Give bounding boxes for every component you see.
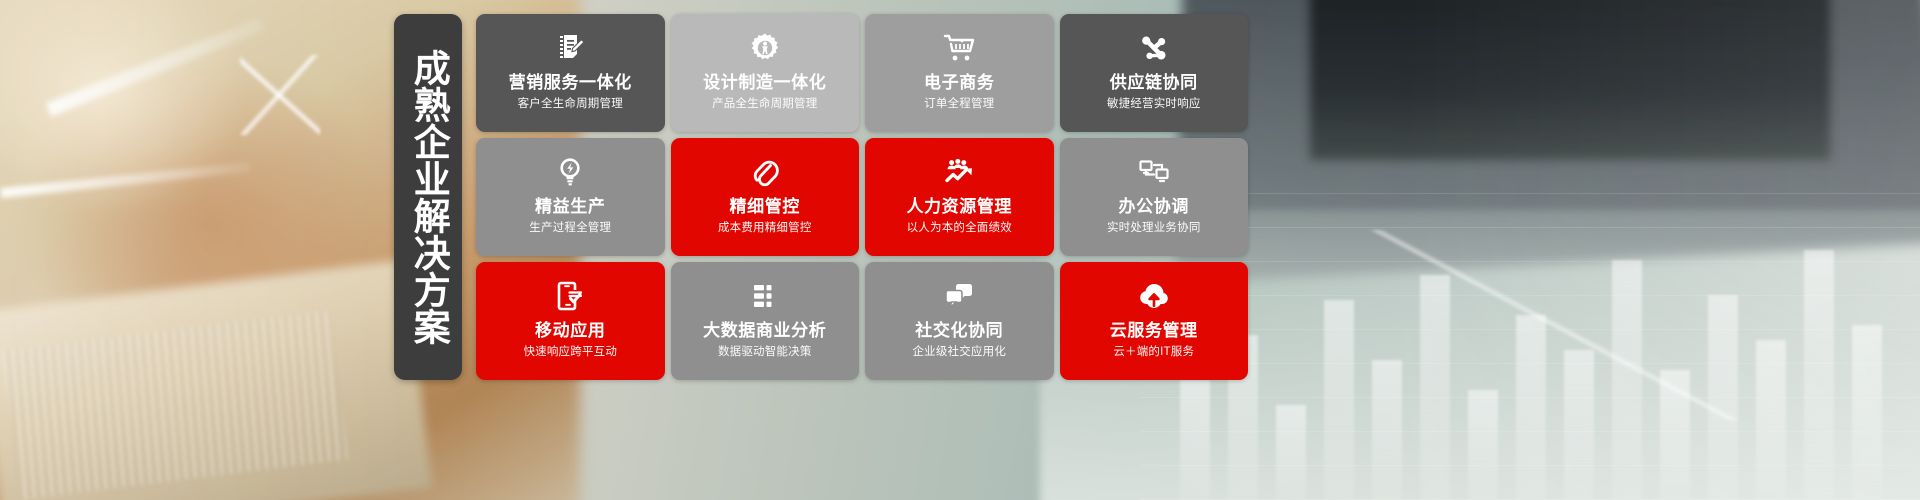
lightbulb-bolt-icon [553, 155, 587, 189]
card-subtitle: 实时处理业务协同 [1107, 222, 1201, 235]
card-design-manufacture[interactable]: 设计制造一体化 产品全生命周期管理 [671, 14, 860, 132]
card-subtitle: 企业级社交应用化 [912, 346, 1006, 359]
banner-content: 成熟企业解决方案 营销服务一体化 客户全生命周期管理 设计制造一体化 产品全生命… [0, 0, 1920, 500]
card-social-collaboration[interactable]: 社交化协同 企业级社交应用化 [865, 262, 1054, 380]
card-title: 设计制造一体化 [703, 74, 826, 93]
card-subtitle: 以人为本的全面绩效 [907, 222, 1012, 235]
card-supply-chain[interactable]: 供应链协同 敏捷经营实时响应 [1060, 14, 1249, 132]
share-network-icon [1137, 31, 1171, 65]
page-title: 成熟企业解决方案 [409, 49, 447, 345]
notepad-pen-icon [553, 31, 587, 65]
card-title: 营销服务一体化 [509, 74, 632, 93]
card-subtitle: 产品全生命周期管理 [712, 98, 817, 111]
card-subtitle: 敏捷经营实时响应 [1107, 98, 1201, 111]
gear-person-icon [748, 31, 782, 65]
paperclip-icon [748, 155, 782, 189]
cloud-upload-icon [1137, 279, 1171, 313]
card-subtitle: 成本费用精细管控 [718, 222, 812, 235]
people-growth-arrow-icon [942, 155, 976, 189]
card-title: 供应链协同 [1110, 74, 1198, 93]
card-title: 办公协调 [1119, 198, 1189, 217]
banner-stage: 成熟企业解决方案 营销服务一体化 客户全生命周期管理 设计制造一体化 产品全生命… [0, 0, 1920, 500]
data-blocks-icon [748, 279, 782, 313]
devices-sync-icon [1137, 155, 1171, 189]
card-ecommerce[interactable]: 电子商务 订单全程管理 [865, 14, 1054, 132]
solution-card-grid: 营销服务一体化 客户全生命周期管理 设计制造一体化 产品全生命周期管理 电子商务… [476, 14, 1248, 380]
card-subtitle: 生产过程全管理 [529, 222, 611, 235]
card-mobile-app[interactable]: 移动应用 快速响应跨平互动 [476, 262, 665, 380]
card-title: 精益生产 [535, 198, 605, 217]
chat-bubbles-icon [942, 279, 976, 313]
card-hr-management[interactable]: 人力资源管理 以人为本的全面绩效 [865, 138, 1054, 256]
card-title: 精细管控 [730, 198, 800, 217]
vertical-title-panel: 成熟企业解决方案 [394, 14, 462, 380]
card-lean-production[interactable]: 精益生产 生产过程全管理 [476, 138, 665, 256]
card-big-data-analysis[interactable]: 大数据商业分析 数据驱动智能决策 [671, 262, 860, 380]
card-title: 电子商务 [924, 74, 994, 93]
card-office-coordination[interactable]: 办公协调 实时处理业务协同 [1060, 138, 1249, 256]
card-title: 大数据商业分析 [703, 322, 826, 341]
card-title: 云服务管理 [1110, 322, 1198, 341]
card-subtitle: 云＋端的IT服务 [1113, 346, 1194, 359]
card-subtitle: 数据驱动智能决策 [718, 346, 812, 359]
card-cloud-service[interactable]: 云服务管理 云＋端的IT服务 [1060, 262, 1249, 380]
card-subtitle: 客户全生命周期管理 [518, 98, 623, 111]
card-title: 移动应用 [535, 322, 605, 341]
card-subtitle: 订单全程管理 [924, 98, 994, 111]
shopping-cart-download-icon [942, 31, 976, 65]
card-fine-control[interactable]: 精细管控 成本费用精细管控 [671, 138, 860, 256]
card-subtitle: 快速响应跨平互动 [523, 346, 617, 359]
card-marketing-service[interactable]: 营销服务一体化 客户全生命周期管理 [476, 14, 665, 132]
card-title: 社交化协同 [915, 322, 1003, 341]
mobile-check-icon [553, 279, 587, 313]
card-title: 人力资源管理 [906, 198, 1012, 217]
